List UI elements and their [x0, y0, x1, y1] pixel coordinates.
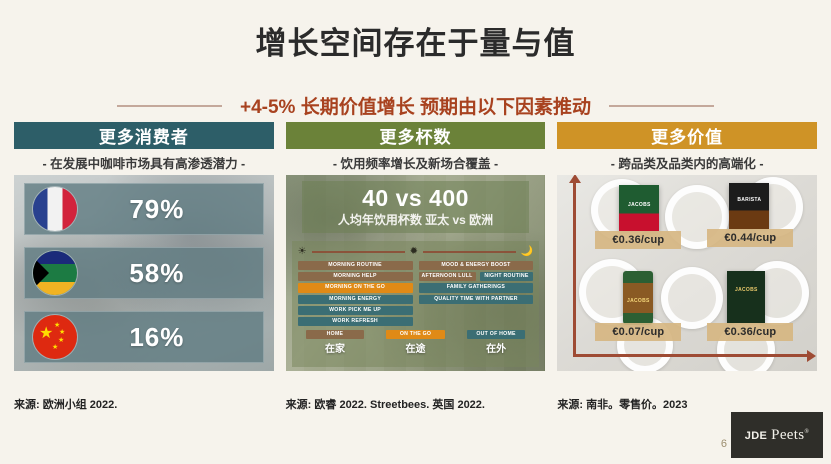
column-3-subhead: - 跨品类及品类内的高端化 - [557, 149, 817, 175]
product-brand-label: JACOBS [727, 287, 765, 293]
occasions-tag-panel: ☀ ✹ 🌙 MORNING ROUTINE MORNING HELP [292, 241, 540, 367]
column-3-body: JACOBS BARISTA JACOBS JACOBS €0.36/cup €… [557, 175, 817, 371]
table-row: 58% [24, 247, 264, 299]
price-label: €0.44/cup [707, 229, 793, 247]
occasion-tag: WORK REFRESH [298, 317, 413, 326]
occasion-tag: FAMILY GATHERINGS [419, 283, 534, 292]
location-tag-cn: 在途 [406, 340, 426, 355]
table-row: ★ ★ ★ ★ ★ 16% [24, 311, 264, 363]
jde-peets-logo: JDE Peets® [731, 412, 823, 458]
location-tag-cn: 在外 [486, 340, 506, 355]
columns-container: 更多消费者 - 在发展中咖啡市场具有高渗透潜力 - 79% 58% ★ ★ ★ [0, 122, 831, 422]
sun-icon: ✹ [410, 247, 418, 257]
occasion-tag: QUALITY TIME WITH PARTNER [419, 295, 534, 304]
column-1-body: 79% 58% ★ ★ ★ ★ ★ 16% [14, 175, 274, 371]
logo-mark: JDE [745, 430, 767, 442]
star-icon: ★ [58, 337, 64, 344]
source-column-2: 来源: 欧睿 2022. Streetbees. 英国 2022. [286, 396, 546, 412]
column-2-body: 40 vs 400 人均年饮用杯数 亚太 vs 欧洲 ☀ ✹ 🌙 MORNING… [286, 175, 546, 371]
flag-south-africa-icon [33, 251, 77, 295]
column-1-header: 更多消费者 [14, 122, 274, 149]
tag-line: QUALITY TIME WITH PARTNER [419, 295, 534, 304]
occasion-tag: MORNING ROUTINE [298, 261, 413, 270]
product-brand-label: JACOBS [623, 298, 653, 304]
product-pack: JACOBS [619, 185, 659, 231]
table-row: 79% [24, 183, 264, 235]
bar-value: 16% [77, 322, 263, 353]
location-tag-row: HOME 在家 ON THE GO 在途 OUT OF HOME 在外 [298, 330, 534, 355]
subtitle-row: +4-5% 长期价值增长 预期由以下因素推动 [0, 92, 831, 119]
price-label: €0.07/cup [595, 323, 681, 341]
star-icon: ★ [54, 322, 60, 329]
product-pack: JACOBS [727, 271, 765, 323]
price-label: €0.36/cup [595, 231, 681, 249]
product-brand-label: JACOBS [619, 202, 659, 208]
tag-line: FAMILY GATHERINGS [419, 283, 534, 292]
star-icon: ★ [52, 344, 58, 351]
source-column-1: 来源: 欧洲小组 2022. [14, 396, 274, 412]
occasion-tag: AFTERNOON LULL [419, 272, 476, 281]
flag-france-icon [33, 187, 77, 231]
daypart-rule-left [312, 251, 405, 253]
product-pack: BARISTA [729, 183, 769, 229]
product-brand-label: BARISTA [729, 197, 769, 203]
occasion-tag: MORNING HELP [298, 272, 413, 281]
cups-backdrop-photo: JACOBS BARISTA JACOBS JACOBS €0.36/cup €… [557, 175, 817, 371]
subtitle-rule-left [117, 105, 222, 107]
star-icon: ★ [39, 326, 53, 342]
tag-column-morning: MORNING ROUTINE MORNING HELP MORNING ON … [298, 261, 413, 326]
subtitle-text: +4-5% 长期价值增长 预期由以下因素推动 [240, 92, 591, 119]
star-icon: ★ [59, 329, 65, 336]
column-more-consumers: 更多消费者 - 在发展中咖啡市场具有高渗透潜力 - 79% 58% ★ ★ ★ [14, 122, 274, 422]
subtitle-rule-right [609, 105, 714, 107]
column-2-subhead: - 饮用频率增长及新场合覆盖 - [286, 149, 546, 175]
tag-line: AFTERNOON LULL NIGHT ROUTINE [419, 272, 534, 281]
penetration-bars: 79% 58% ★ ★ ★ ★ ★ 16% [14, 175, 274, 371]
column-2-header: 更多杯数 [286, 122, 546, 149]
subtitle-rest: 长期价值增长 预期由以下因素推动 [295, 97, 591, 118]
occasion-tag: MOOD & ENERGY BOOST [419, 261, 534, 270]
tag-columns: MORNING ROUTINE MORNING HELP MORNING ON … [298, 261, 534, 326]
daypart-icon-row: ☀ ✹ 🌙 [298, 246, 534, 258]
bar-value: 79% [77, 194, 263, 225]
sources-row: 来源: 欧洲小组 2022. 来源: 欧睿 2022. Streetbees. … [0, 396, 831, 412]
occasion-tag: MORNING ON THE GO [298, 283, 413, 292]
value-axis-vertical [573, 181, 576, 357]
page-number: 6 [721, 438, 727, 450]
moon-night-icon: 🌙 [521, 247, 533, 257]
tag-line: WORK REFRESH [298, 317, 413, 326]
occasion-tag: WORK PICK ME UP [298, 306, 413, 315]
tag-line: MORNING ON THE GO [298, 283, 413, 292]
source-column-3: 来源: 南非。零售价。2023 [557, 396, 817, 412]
cup-icon [661, 267, 723, 329]
product-pack: JACOBS [623, 271, 653, 325]
location-tag: OUT OF HOME [467, 330, 525, 339]
stat-caption: 人均年饮用杯数 亚太 vs 欧洲 [338, 211, 493, 228]
location-tag-cn: 在家 [325, 340, 345, 355]
tag-line: MOOD & ENERGY BOOST [419, 261, 534, 270]
stat-headline: 40 vs 400 [362, 186, 469, 210]
logo-text: JDE Peets® [745, 427, 809, 444]
occasion-tag: NIGHT ROUTINE [480, 272, 534, 281]
location-cell: HOME 在家 [298, 330, 373, 355]
tag-line: MORNING ROUTINE [298, 261, 413, 270]
location-tag: HOME [306, 330, 364, 339]
column-3-header: 更多价值 [557, 122, 817, 149]
tag-line: MORNING ENERGY [298, 295, 413, 304]
logo-name: Peets [771, 427, 804, 443]
location-cell: ON THE GO 在途 [378, 330, 453, 355]
value-axis-horizontal [573, 354, 809, 357]
column-more-cups: 更多杯数 - 饮用频率增长及新场合覆盖 - 40 vs 400 人均年饮用杯数 … [286, 122, 546, 422]
location-cell: OUT OF HOME 在外 [459, 330, 534, 355]
cups-stat-band: 40 vs 400 人均年饮用杯数 亚太 vs 欧洲 [302, 181, 530, 233]
sunrise-icon: ☀ [298, 247, 307, 257]
bar-value: 58% [77, 258, 263, 289]
subtitle-accent: +4-5% [240, 97, 295, 118]
daypart-rule-right [423, 251, 516, 253]
tag-column-evening: MOOD & ENERGY BOOST AFTERNOON LULL NIGHT… [419, 261, 534, 326]
location-tag: ON THE GO [386, 330, 444, 339]
column-1-subhead: - 在发展中咖啡市场具有高渗透潜力 - [14, 149, 274, 175]
price-label: €0.36/cup [707, 323, 793, 341]
flag-china-icon: ★ ★ ★ ★ ★ [33, 315, 77, 359]
registered-icon: ® [804, 429, 809, 435]
occasion-tag: MORNING ENERGY [298, 295, 413, 304]
column-more-value: 更多价值 - 跨品类及品类内的高端化 - JACOBS BARISTA [557, 122, 817, 422]
tag-line: WORK PICK ME UP [298, 306, 413, 315]
tag-line: MORNING HELP [298, 272, 413, 281]
page-title: 增长空间存在于量与值 [0, 18, 831, 63]
